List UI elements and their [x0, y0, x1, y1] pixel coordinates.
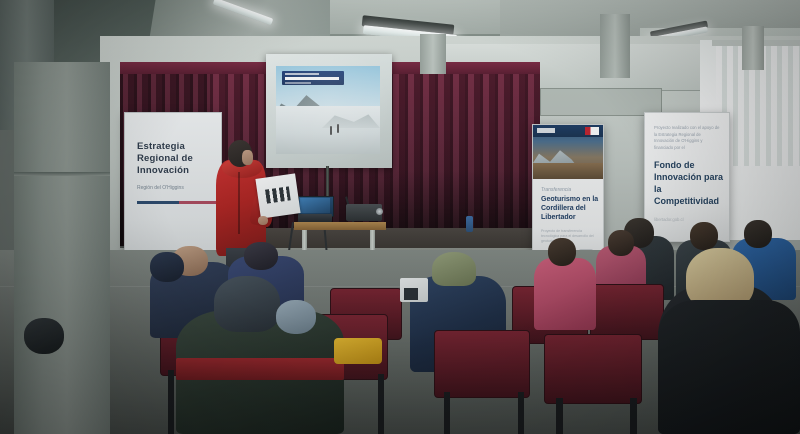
laptop-screen: [300, 198, 330, 213]
column-far-right: [742, 26, 764, 70]
screen-glow: [266, 54, 392, 168]
audience-person-body: [658, 300, 800, 434]
jacket-stripe: [176, 358, 344, 380]
chair-leg: [630, 398, 637, 434]
banner-right-title: Fondo de Innovación para la Competitivid…: [654, 159, 724, 207]
presenter-zipper: [238, 172, 240, 234]
chair-back: [434, 330, 530, 398]
presentation-photo: Estrategia Regional de Innovación Región…: [0, 0, 800, 434]
fondo-innovacion-banner: Proyecto realizado con el apoyo de la Es…: [644, 112, 730, 242]
chair-leg: [556, 398, 563, 434]
water-bottle: [466, 216, 473, 232]
banner-mid-photo-ground: [533, 163, 603, 179]
presenter-face: [242, 150, 253, 165]
chair-leg: [444, 392, 450, 434]
projector-lens-icon: [376, 208, 383, 215]
banner-mid-photo: [533, 125, 603, 179]
column-right: [600, 14, 630, 78]
handout-graphic: [265, 186, 291, 203]
banner-left-rule-blue: [137, 201, 179, 204]
chair-leg: [168, 370, 174, 434]
banner-mid-pretitle: Transferencia: [541, 187, 597, 193]
laptop-base: [298, 214, 332, 222]
audience-person-head: [608, 230, 634, 256]
audience-person-head: [744, 220, 772, 248]
gov-logo-icon: [537, 128, 555, 133]
banner-right-url: libertador.gob.cl: [654, 217, 724, 222]
banner-mid-title: Geoturismo en la Cordillera del Libertad…: [541, 195, 599, 222]
yellow-item-on-chair: [334, 338, 382, 364]
banner-left-subtitle: Región del O'Higgins: [137, 185, 217, 192]
banner-right-pretitle: Proyecto realizado con el apoyo de la Es…: [654, 125, 720, 151]
audience-person-cap: [276, 300, 316, 334]
banner-left-title: Estrategia Regional de Innovación: [137, 141, 217, 177]
equipment-table: [294, 222, 386, 230]
column-center: [420, 34, 446, 74]
presenter-handout: [255, 173, 300, 218]
chair-back: [544, 334, 642, 404]
chair-back: [590, 284, 664, 340]
audience-person-hat: [150, 252, 184, 282]
column-foreground-left: [14, 62, 110, 434]
audience-person-cap: [432, 252, 476, 286]
audience-person-head: [244, 242, 278, 270]
audience-person-body: [534, 258, 596, 330]
presenter-hand: [258, 216, 268, 225]
audience-person-head: [690, 222, 718, 250]
chair-leg: [378, 374, 384, 434]
audience-person-head: [548, 238, 576, 266]
audience-person-head: [24, 318, 64, 354]
audience-phone-screen: [404, 288, 418, 300]
column-seam: [14, 172, 110, 176]
banner-left-rule-red: [179, 201, 217, 204]
flag-icon: [585, 127, 599, 135]
chair-leg: [518, 392, 524, 434]
audience-person-hat: [214, 276, 280, 332]
